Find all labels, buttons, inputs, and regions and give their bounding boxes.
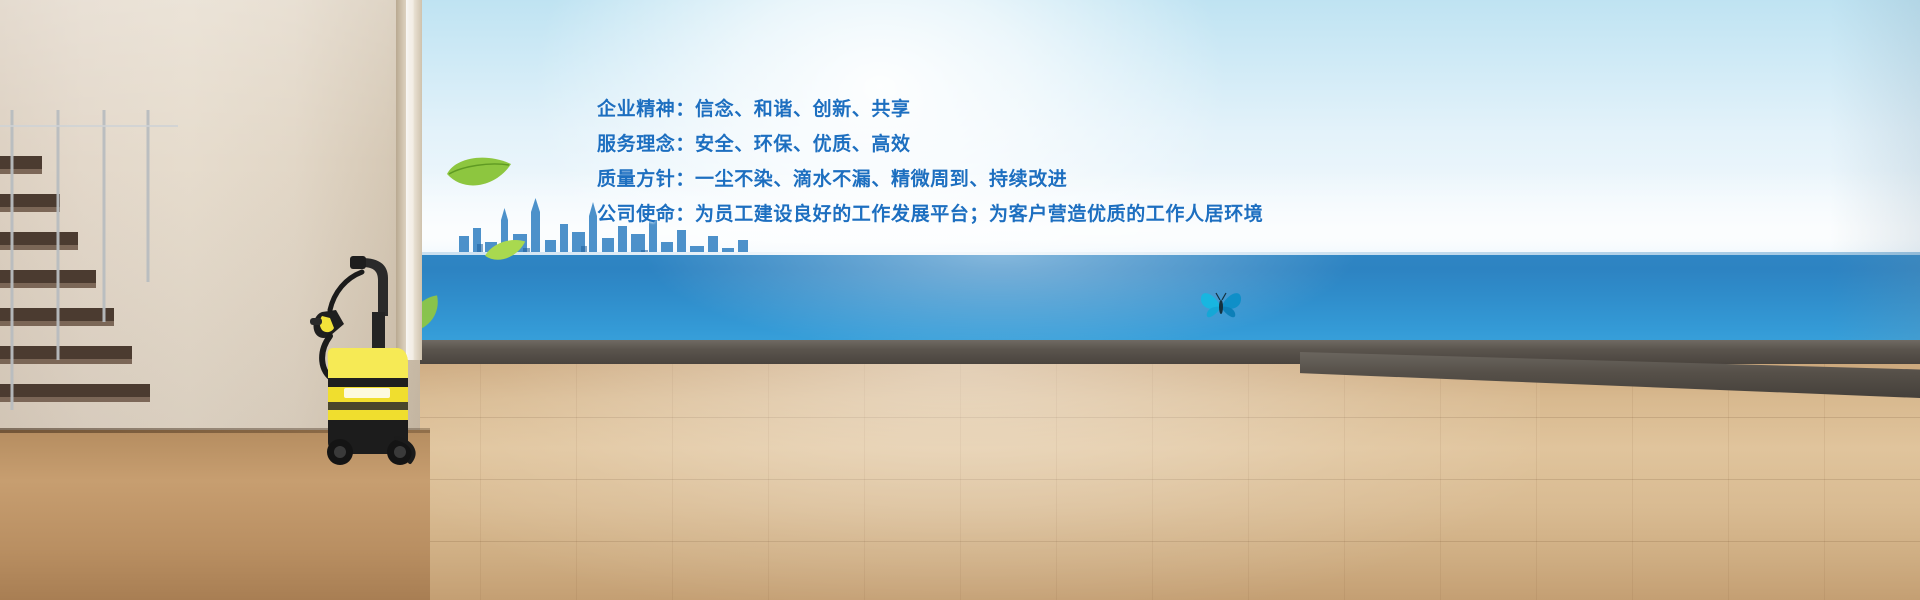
scene-right-vignette [1830, 0, 1920, 360]
slogan-line-quality: 质量方针：一尘不染、滴水不漏、精微周到、持续改进 [597, 162, 1357, 197]
staircase [0, 110, 178, 440]
butterfly-icon [1198, 283, 1244, 329]
slogan-line-mission: 公司使命：为员工建设良好的工作发展平台；为客户营造优质的工作人居环境 [597, 197, 1357, 232]
company-culture-banner: 企业精神：信念、和谐、创新、共享 服务理念：安全、环保、优质、高效 质量方针：一… [0, 0, 1920, 600]
floor-light-reflection [380, 360, 1540, 600]
slogan-line-service: 服务理念：安全、环保、优质、高效 [597, 127, 1357, 162]
pressure-washer [300, 252, 430, 467]
slogan-block: 企业精神：信念、和谐、创新、共享 服务理念：安全、环保、优质、高效 质量方针：一… [597, 92, 1357, 232]
baseboard [405, 340, 1920, 364]
slogan-line-spirit: 企业精神：信念、和谐、创新、共享 [597, 92, 1357, 127]
leaf-icon [445, 152, 515, 203]
